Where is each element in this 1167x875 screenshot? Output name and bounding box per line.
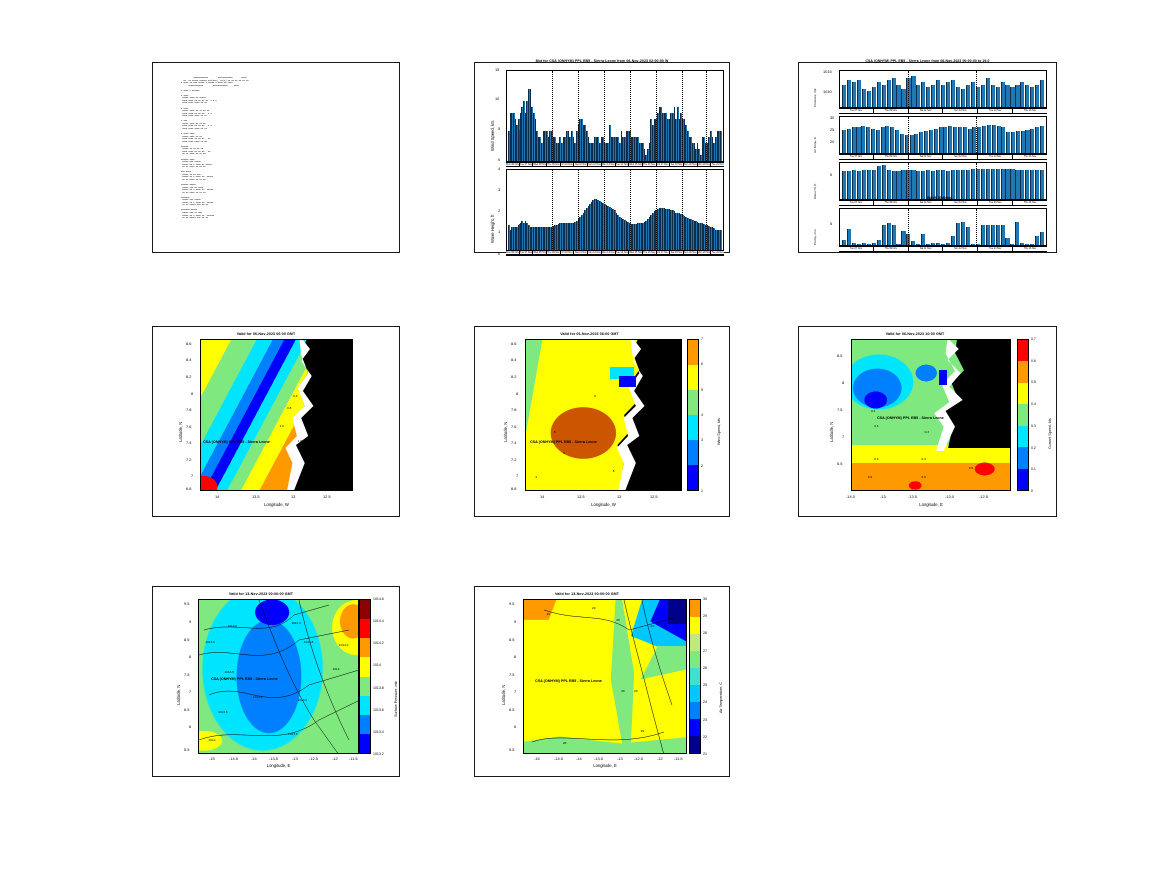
bar bbox=[1006, 132, 1010, 153]
bar bbox=[916, 244, 920, 245]
wind-map-plot: 6 5 6 6 4 bbox=[525, 339, 682, 491]
wind-colorbar-label: Wind Speed, kts bbox=[717, 418, 721, 445]
colorbar-segment bbox=[1018, 404, 1028, 425]
bar bbox=[929, 130, 933, 153]
wind-speed-y-axis-label: Wind Speed, kts bbox=[490, 121, 495, 152]
bar bbox=[996, 87, 1000, 107]
pressure-contour-label-11: 1013.6 bbox=[288, 732, 297, 736]
bar bbox=[901, 231, 905, 245]
colorbar-segment bbox=[690, 685, 700, 702]
day-label: Thu 16 Nov bbox=[643, 251, 657, 254]
pressure-contour-label-12: 1014 bbox=[209, 738, 216, 742]
colorbar-segment bbox=[690, 736, 700, 753]
bar bbox=[866, 127, 870, 153]
bar bbox=[877, 82, 881, 107]
bar bbox=[936, 170, 940, 199]
bar bbox=[1001, 225, 1005, 245]
bar bbox=[911, 76, 915, 108]
bar bbox=[1021, 131, 1025, 153]
bar bbox=[986, 78, 990, 107]
day-label: Tue 07 Nov bbox=[839, 109, 874, 113]
bar bbox=[1005, 85, 1009, 108]
colorbar-tick: 1014.4 bbox=[373, 619, 384, 623]
bar bbox=[991, 225, 995, 245]
colorbar-segment bbox=[1018, 340, 1028, 361]
bar bbox=[953, 127, 957, 153]
bar bbox=[961, 170, 965, 199]
wind-colorbar-ticks: 1234567 bbox=[701, 339, 721, 491]
pressure-contour-label-10: 1013.6 bbox=[218, 710, 227, 714]
colorbar-segment bbox=[1018, 383, 1028, 404]
bar bbox=[876, 130, 880, 153]
day-label: Thu 09 Nov bbox=[547, 163, 561, 166]
colorbar-tick: 0.3 bbox=[1031, 424, 1036, 428]
colorbar-segment bbox=[360, 600, 370, 619]
airtemp-contour-label-8: 29 bbox=[634, 689, 637, 693]
colorbar-segment bbox=[360, 696, 370, 715]
bar bbox=[966, 227, 970, 245]
pressure-map-x-axis-label: Longitude, E bbox=[198, 763, 359, 768]
day-label: Sun 12 Nov bbox=[943, 109, 978, 113]
day-label: Fri 10 Nov bbox=[561, 163, 575, 166]
bar bbox=[881, 127, 885, 153]
precip-day-strip: Tue 07 NovThu 09 NovSat 11 NovSun 12 Nov… bbox=[839, 246, 1047, 252]
bar bbox=[916, 85, 920, 108]
colorbar-segment bbox=[690, 719, 700, 736]
bar bbox=[861, 126, 865, 153]
bar bbox=[910, 135, 914, 153]
wave-height-bars bbox=[507, 170, 723, 255]
bar bbox=[1011, 132, 1015, 153]
colorbar-tick: 7 bbox=[701, 337, 703, 341]
colorbar-segment bbox=[360, 619, 370, 638]
colorbar-tick: 24 bbox=[703, 700, 707, 704]
bar bbox=[921, 82, 925, 107]
current-colorbar-label: Current Speed, kts bbox=[1048, 418, 1052, 449]
bar bbox=[963, 127, 967, 153]
colorbar-tick: 27 bbox=[703, 649, 707, 653]
current-colorbar bbox=[1017, 339, 1029, 491]
current-map-y-axis-label: Latitude, N bbox=[829, 422, 834, 442]
colorbar-tick: 0.6 bbox=[1031, 359, 1036, 363]
wind-day-strip: Mon 06 NovTue 07 NovWed 08 NovThu 09 Nov… bbox=[506, 162, 724, 167]
bar bbox=[867, 91, 871, 107]
colorbar-segment bbox=[690, 651, 700, 668]
bar bbox=[720, 131, 722, 161]
day-label: Wed 08 Nov bbox=[533, 251, 547, 254]
pressure-subplot bbox=[839, 70, 1047, 108]
pressure-map-annotation: CSA (ONHYM) PPL EB5 - Sierra Leone bbox=[211, 677, 278, 681]
colorbar-tick: 29 bbox=[703, 614, 707, 618]
bar bbox=[991, 169, 995, 199]
colorbar-tick: 23 bbox=[703, 718, 707, 722]
bar bbox=[1010, 244, 1014, 245]
bar bbox=[896, 171, 900, 199]
bar bbox=[941, 170, 945, 199]
day-label: Sat 11 Nov bbox=[574, 251, 588, 254]
bar bbox=[862, 243, 866, 245]
bar bbox=[852, 243, 856, 245]
day-label: Tue 07 Nov bbox=[839, 155, 874, 159]
wind-wave-timeseries-panel: Mot for CSA (ONHYM) PPL EB5 - Sierra Leo… bbox=[474, 62, 730, 253]
bar bbox=[977, 127, 981, 153]
bar bbox=[926, 87, 930, 107]
wave-map-y-axis-label: Latitude, N bbox=[178, 422, 183, 442]
day-label: Tue 21 Nov bbox=[711, 251, 724, 254]
current-colorbar-ticks: 00.10.20.30.40.50.60.7 bbox=[1031, 339, 1051, 491]
day-label: Tue 07 Nov bbox=[520, 251, 534, 254]
wind-speed-map-panel: Valid for 06-Nov-2023 06:00 GMT 6 5 6 6 … bbox=[474, 326, 730, 517]
bar bbox=[1030, 129, 1034, 153]
colorbar-segment bbox=[360, 734, 370, 753]
bar bbox=[895, 130, 899, 153]
bar bbox=[934, 129, 938, 153]
colorbar-segment bbox=[1018, 447, 1028, 468]
bar bbox=[842, 130, 846, 153]
colorbar-tick: 26 bbox=[703, 666, 707, 670]
wind-vector-field bbox=[201, 340, 352, 490]
current-map-plot: 0.3 0.4 0.3 0.4 0.5 0.4 0.4 0.5 0.5 0.6 bbox=[851, 339, 1011, 491]
bar bbox=[914, 134, 918, 153]
precip-y-axis-label: Precip, mm bbox=[813, 229, 817, 245]
wave-ytick-0: 0 bbox=[498, 251, 500, 256]
bar bbox=[872, 170, 876, 199]
waveheight-ytick-5: 5 bbox=[830, 172, 832, 177]
bar bbox=[847, 129, 851, 153]
bar bbox=[991, 85, 995, 108]
day-label: Tue 14 Nov bbox=[978, 109, 1013, 113]
bar bbox=[968, 129, 972, 153]
bar bbox=[987, 125, 991, 153]
bar bbox=[1035, 236, 1039, 245]
colorbar-tick: 1013.8 bbox=[373, 686, 384, 690]
day-label: Sun 12 Nov bbox=[588, 163, 602, 166]
airtemp-colorbar-label: Air Temperature, C bbox=[719, 682, 723, 713]
bar bbox=[996, 169, 1000, 199]
colorbar-segment bbox=[360, 657, 370, 676]
day-label: Tue 07 Nov bbox=[839, 247, 874, 251]
wave-map-annotation: CSA (ONHYM) PPL EB5 - Sierra Leone bbox=[203, 440, 270, 444]
bar bbox=[887, 223, 891, 245]
bar bbox=[931, 85, 935, 108]
colorbar-tick: 0.7 bbox=[1031, 337, 1036, 341]
airtemp-ytick-30: 30 bbox=[830, 115, 834, 120]
day-label: Sun 12 Nov bbox=[943, 201, 978, 205]
day-label: Thu 09 Nov bbox=[874, 155, 909, 159]
bar bbox=[890, 127, 894, 153]
day-label: Sun 12 Nov bbox=[943, 155, 978, 159]
airtemp-ytick-25: 25 bbox=[830, 127, 834, 132]
day-label: Thu 09 Nov bbox=[547, 251, 561, 254]
airtemp-map-x-axis-label: Longitude, E bbox=[523, 763, 687, 768]
bar bbox=[1015, 222, 1019, 245]
bar bbox=[852, 170, 856, 199]
current-map-x-axis-label: Longitude, E bbox=[851, 502, 1011, 507]
day-label: Thu 09 Nov bbox=[874, 201, 909, 205]
bar bbox=[982, 126, 986, 153]
bar bbox=[885, 126, 889, 153]
bar bbox=[943, 127, 947, 153]
bar bbox=[997, 126, 1001, 153]
bar bbox=[971, 169, 975, 199]
colorbar-tick: 1013.4 bbox=[373, 730, 384, 734]
bar bbox=[867, 170, 871, 199]
colorbar-tick: 4 bbox=[701, 413, 703, 417]
pressure-contour-label-6: 1013.5 bbox=[224, 670, 233, 674]
airtemp-contour-label-3: 29 bbox=[616, 618, 619, 622]
bar bbox=[911, 170, 915, 199]
colorbar-segment bbox=[688, 390, 698, 415]
pressure-colorbar bbox=[359, 599, 371, 754]
colorbar-tick: 3 bbox=[701, 438, 703, 442]
bar bbox=[961, 89, 965, 107]
colorbar-segment bbox=[1018, 361, 1028, 382]
day-label: Tue 14 Nov bbox=[978, 247, 1013, 251]
day-label: Tue 14 Nov bbox=[616, 163, 630, 166]
wave-height-y-axis-label: Wave Height, ft bbox=[490, 215, 495, 243]
bar bbox=[892, 225, 896, 245]
day-label: Tue 07 Nov bbox=[520, 163, 534, 166]
wind-vector-field bbox=[852, 340, 1010, 490]
colorbar-tick: 28 bbox=[703, 631, 707, 635]
bar bbox=[862, 170, 866, 199]
pressure-bars bbox=[840, 71, 1046, 107]
day-label: Sat 11 Nov bbox=[909, 247, 944, 251]
four-panel-chart-title: CSA (ONHYM) PPL EB5 - Sierra Leone from … bbox=[799, 59, 1056, 63]
colorbar-tick: 5 bbox=[701, 388, 703, 392]
bar bbox=[862, 89, 866, 107]
bar bbox=[847, 229, 851, 245]
airtemp-ytick-20: 20 bbox=[830, 139, 834, 144]
pressure-colorbar-label: Surface Pressure, mb bbox=[394, 681, 398, 717]
day-label: Tue 14 Nov bbox=[978, 201, 1013, 205]
wave-day-strip: Mon 06 NovTue 07 NovWed 08 NovThu 09 Nov… bbox=[506, 250, 724, 255]
bar bbox=[871, 129, 875, 153]
pressure-contour-label-5: 1014.2 bbox=[339, 643, 348, 647]
airtemp-contour-label-7: 29 bbox=[621, 689, 624, 693]
colorbar-segment bbox=[688, 465, 698, 490]
bar bbox=[981, 225, 985, 245]
day-label: Mon 13 Nov bbox=[602, 163, 616, 166]
bar bbox=[896, 244, 900, 245]
colorbar-segment bbox=[690, 600, 700, 617]
pressure-ytick-1015: 1015 bbox=[823, 69, 832, 74]
bar bbox=[921, 171, 925, 199]
pressure-y-axis-label: Pressure, mb bbox=[813, 89, 817, 107]
bar bbox=[1025, 170, 1029, 199]
pressure-contour-label-2: 1013.4 bbox=[291, 621, 300, 625]
waveheight-y-axis-label: Wave Ht, ft bbox=[813, 184, 817, 199]
bar bbox=[941, 244, 945, 245]
colorbar-tick: 25 bbox=[703, 683, 707, 687]
bar bbox=[1040, 170, 1044, 199]
bar bbox=[926, 170, 930, 199]
bar bbox=[939, 127, 943, 153]
precip-bars bbox=[840, 209, 1046, 245]
bar bbox=[986, 225, 990, 245]
bar bbox=[971, 82, 975, 107]
day-label: Sun 19 Nov bbox=[684, 251, 698, 254]
bar bbox=[956, 170, 960, 199]
pressure-contour-label-9: 1013.6 bbox=[298, 698, 307, 702]
wind-ytick-5: 5 bbox=[498, 126, 500, 131]
colorbar-segment bbox=[688, 340, 698, 365]
bar bbox=[911, 241, 915, 245]
airtemp-colorbar-ticks: 21222324252627282930 bbox=[703, 599, 723, 754]
bar bbox=[919, 132, 923, 153]
bar bbox=[961, 222, 965, 245]
airtemp-y-axis-label: Air Temp, C bbox=[813, 137, 817, 153]
day-label: Sat 11 Nov bbox=[909, 155, 944, 159]
day-label: Mon 20 Nov bbox=[698, 163, 712, 166]
day-label: Sun 12 Nov bbox=[943, 247, 978, 251]
colorbar-segment bbox=[360, 638, 370, 657]
day-label: Tue 21 Nov bbox=[711, 163, 724, 166]
bar bbox=[847, 171, 851, 199]
wind-map-y-axis-label: Latitude, N bbox=[503, 422, 508, 442]
wave-height-plot bbox=[506, 169, 724, 256]
day-label: Sun 19 Nov bbox=[684, 163, 698, 166]
bar bbox=[877, 166, 881, 199]
colorbar-tick: 2 bbox=[701, 464, 703, 468]
airtemp-contour-label-5: 23 bbox=[663, 624, 666, 628]
day-label: Wed 15 Nov bbox=[629, 163, 643, 166]
bar bbox=[1030, 87, 1034, 107]
bar bbox=[1001, 127, 1005, 153]
bar bbox=[1020, 82, 1024, 107]
wind-colorbar bbox=[687, 339, 699, 491]
bar bbox=[901, 170, 905, 199]
bar bbox=[992, 125, 996, 153]
bar bbox=[857, 171, 861, 199]
bar bbox=[857, 244, 861, 245]
colorbar-segment bbox=[690, 702, 700, 719]
bar bbox=[1020, 170, 1024, 199]
wind-ytick-10: 10 bbox=[495, 96, 499, 101]
colorbar-tick: 0.4 bbox=[1031, 402, 1036, 406]
bar bbox=[872, 87, 876, 107]
colorbar-tick: 0 bbox=[1031, 489, 1033, 493]
colorbar-tick: 0.5 bbox=[1031, 380, 1036, 384]
bar bbox=[842, 240, 846, 245]
day-label: Sat 11 Nov bbox=[574, 163, 588, 166]
wind-map-x-axis-label: Longitude, W bbox=[525, 502, 682, 507]
day-label: Wed 08 Nov bbox=[533, 163, 547, 166]
bar bbox=[946, 243, 950, 245]
bar bbox=[1001, 82, 1005, 107]
four-panel-timeseries: CSA (ONHYM) PPL EB5 - Sierra Leone from … bbox=[798, 62, 1057, 253]
airtemp-contour-label-10: 29 bbox=[641, 729, 644, 733]
bar bbox=[887, 170, 891, 199]
airtemp-contour-label-6: 22 bbox=[673, 621, 676, 625]
bar bbox=[948, 126, 952, 153]
current-time-marker-wind bbox=[519, 130, 520, 161]
colorbar-segment bbox=[690, 668, 700, 685]
colorbar-segment bbox=[688, 415, 698, 440]
bar bbox=[1040, 126, 1044, 153]
bar bbox=[1025, 130, 1029, 153]
day-label: Mon 06 Nov bbox=[506, 163, 520, 166]
bar bbox=[1040, 80, 1044, 107]
waveheight-bars bbox=[840, 163, 1046, 199]
colorbar-tick: 0.2 bbox=[1031, 446, 1036, 450]
colorbar-tick: 1 bbox=[701, 489, 703, 493]
bar bbox=[882, 165, 886, 199]
bar bbox=[941, 85, 945, 108]
bar bbox=[882, 85, 886, 108]
current-map-annotation: CSA (ONHYM) PPL EB5 - Sierra Leone bbox=[877, 416, 944, 420]
bar bbox=[877, 240, 881, 245]
day-label: Fri 17 Nov bbox=[657, 251, 671, 254]
wave-height-map-panel: Valid for 06-Nov-2023 06:00 GMT 0.4 0.8 … bbox=[152, 326, 400, 517]
bar bbox=[892, 171, 896, 199]
airtemp-map-y-axis-label: Latitude, N bbox=[501, 685, 506, 705]
bar bbox=[842, 171, 846, 199]
bar bbox=[1035, 170, 1039, 199]
day-label: Fri 10 Nov bbox=[561, 251, 575, 254]
bar bbox=[882, 225, 886, 245]
day-label: Thu 16 Nov bbox=[1013, 155, 1047, 159]
bar bbox=[857, 80, 861, 107]
airtemp-map-title: Valid for 13-Nov-2023 00:00:00 GMT bbox=[495, 592, 679, 596]
bar bbox=[946, 171, 950, 199]
wave-ytick-4: 4 bbox=[498, 166, 500, 171]
day-label: Thu 09 Nov bbox=[874, 109, 909, 113]
colorbar-tick: 0.1 bbox=[1031, 467, 1036, 471]
wave-ytick-1: 1 bbox=[498, 229, 500, 234]
bar bbox=[1025, 85, 1029, 108]
bar bbox=[852, 82, 856, 107]
bar bbox=[887, 80, 891, 107]
wind-speed-bars bbox=[507, 71, 723, 161]
precip-subplot bbox=[839, 208, 1047, 246]
colorbar-segment bbox=[688, 440, 698, 465]
bar bbox=[1015, 170, 1019, 199]
bar bbox=[931, 171, 935, 199]
wind-wave-chart-title: Mot for CSA (ONHYM) PPL EB5 - Sierra Leo… bbox=[475, 59, 729, 63]
colorbar-segment bbox=[1018, 469, 1028, 490]
bar bbox=[867, 244, 871, 245]
bar bbox=[1035, 127, 1039, 153]
current-map-title: Valid for 06-Nov-2023 10:00 GMT bbox=[819, 332, 1011, 336]
bar bbox=[1035, 85, 1039, 108]
bar bbox=[921, 234, 925, 245]
day-label: Tue 14 Nov bbox=[616, 251, 630, 254]
day-label: Sat 11 Nov bbox=[909, 201, 944, 205]
airtemp-contour-label-4: 24 bbox=[650, 624, 653, 628]
day-label: Sun 12 Nov bbox=[588, 251, 602, 254]
surface-pressure-map-panel: Valid for 13-Nov-2023 00:00:00 GMT 1013.… bbox=[152, 586, 400, 777]
bar bbox=[872, 243, 876, 245]
bar bbox=[981, 85, 985, 108]
colorbar-segment bbox=[688, 365, 698, 390]
bar bbox=[931, 243, 935, 245]
colorbar-tick: 1013.6 bbox=[373, 708, 384, 712]
day-label: Thu 16 Nov bbox=[1013, 201, 1047, 205]
bar bbox=[946, 82, 950, 107]
wave-map-title: Valid for 06-Nov-2023 06:00 GMT bbox=[173, 332, 359, 336]
colorbar-tick: 22 bbox=[703, 735, 707, 739]
bar bbox=[896, 85, 900, 108]
wind-ytick-15: 15 bbox=[495, 67, 499, 72]
bar bbox=[1015, 85, 1019, 108]
day-label: Thu 16 Nov bbox=[643, 163, 657, 166]
bar bbox=[958, 127, 962, 153]
bar bbox=[856, 127, 860, 153]
bar bbox=[1025, 244, 1029, 245]
wind-ytick-0: 0 bbox=[498, 157, 500, 162]
waveheight-subplot bbox=[839, 162, 1047, 200]
